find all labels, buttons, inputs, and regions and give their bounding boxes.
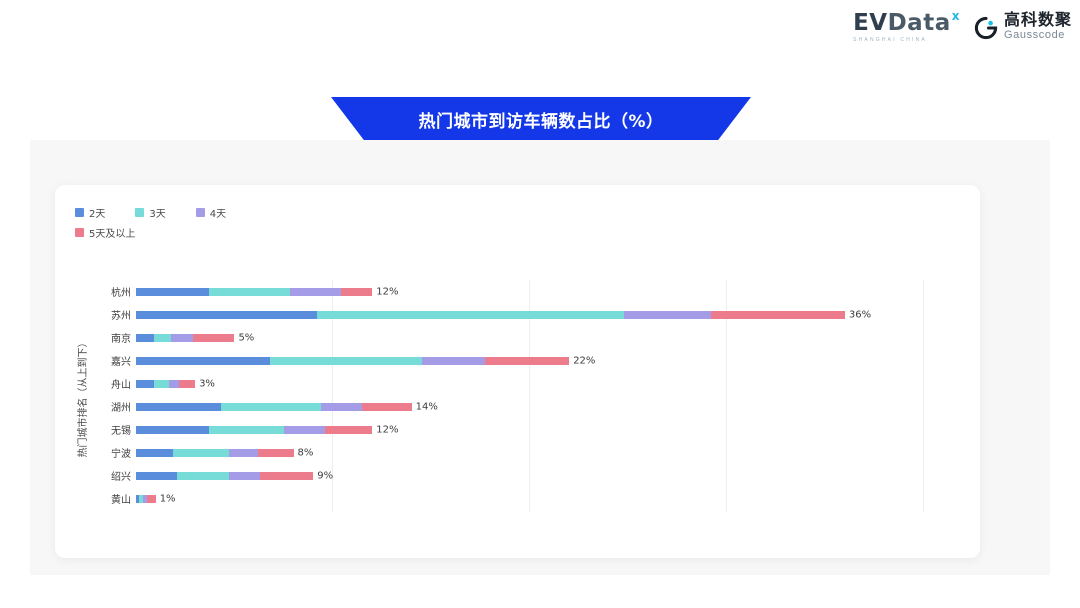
- chart-area: 热门城市排名（从上到下） 杭州12%苏州36%南京5%嘉兴22%舟山3%湖州14…: [55, 280, 980, 515]
- bar-segment-3天[interactable]: [270, 357, 422, 365]
- stacked-bar[interactable]: 3%: [136, 380, 195, 388]
- stacked-bar[interactable]: 1%: [136, 495, 156, 503]
- bar-segment-2天[interactable]: [136, 403, 221, 411]
- evdata-logo: EVDatax shanghai china: [853, 12, 960, 43]
- bar-segment-5天及以上[interactable]: [147, 495, 156, 503]
- stacked-bar[interactable]: 8%: [136, 449, 294, 457]
- bar-segment-5天及以上[interactable]: [341, 288, 373, 296]
- legend-item-4天[interactable]: 4天: [196, 205, 226, 220]
- bar-segment-5天及以上[interactable]: [485, 357, 570, 365]
- bar-segment-4天[interactable]: [169, 380, 179, 388]
- bar-row-label: 黄山: [97, 491, 136, 506]
- legend-item-3天[interactable]: 3天: [135, 205, 165, 220]
- bar-row-label: 嘉兴: [97, 353, 136, 368]
- bar-row[interactable]: 杭州12%: [97, 280, 962, 303]
- bar-value-label: 5%: [238, 332, 254, 343]
- bar-segment-3天[interactable]: [209, 288, 290, 296]
- bar-segment-5天及以上[interactable]: [258, 449, 293, 457]
- gausscode-mark-icon: [974, 16, 998, 40]
- bar-segment-4天[interactable]: [229, 449, 259, 457]
- bar-row-label: 苏州: [97, 307, 136, 322]
- bar-value-label: 12%: [376, 424, 398, 435]
- gausscode-text: 高科数聚 Gausscode: [1004, 13, 1072, 41]
- bar-row[interactable]: 无锡12%: [97, 418, 962, 441]
- legend-label: 5天及以上: [89, 225, 135, 240]
- stacked-bar[interactable]: 12%: [136, 426, 372, 434]
- bar-row[interactable]: 黄山1%: [97, 487, 962, 510]
- bar-segment-2天[interactable]: [136, 288, 209, 296]
- bar-segment-4天[interactable]: [171, 334, 193, 342]
- bar-row-label: 湖州: [97, 399, 136, 414]
- bar-segment-5天及以上[interactable]: [711, 311, 845, 319]
- bar-segment-5天及以上[interactable]: [325, 426, 372, 434]
- bar-row[interactable]: 苏州36%: [97, 303, 962, 326]
- bar-segment-3天[interactable]: [221, 403, 321, 411]
- bar-segment-2天[interactable]: [136, 357, 270, 365]
- evdata-wordmark: EVDatax: [853, 12, 960, 35]
- bar-segment-3天[interactable]: [177, 472, 228, 480]
- bar-value-label: 9%: [317, 470, 333, 481]
- bar-segment-4天[interactable]: [284, 426, 325, 434]
- legend-item-5天及以上[interactable]: 5天及以上: [75, 225, 375, 240]
- bar-segment-3天[interactable]: [154, 380, 170, 388]
- bar-segment-2天[interactable]: [136, 449, 173, 457]
- title-ribbon-wrapper: 热门城市到访车辆数占比（%）: [0, 97, 1080, 145]
- gausscode-en-name: Gausscode: [1004, 30, 1072, 42]
- chart-card: 2天3天4天5天及以上 热门城市排名（从上到下） 杭州12%苏州36%南京5%嘉…: [55, 185, 980, 558]
- bar-segment-2天[interactable]: [136, 426, 209, 434]
- bar-segment-4天[interactable]: [422, 357, 485, 365]
- bar-row-label: 绍兴: [97, 468, 136, 483]
- bar-row[interactable]: 南京5%: [97, 326, 962, 349]
- stacked-bar[interactable]: 9%: [136, 472, 313, 480]
- legend-swatch-icon: [75, 208, 84, 217]
- evdata-data-text: Data: [888, 12, 951, 35]
- stacked-bar[interactable]: 14%: [136, 403, 412, 411]
- bar-row[interactable]: 宁波8%: [97, 441, 962, 464]
- bar-segment-5天及以上[interactable]: [179, 380, 195, 388]
- bar-segment-3天[interactable]: [173, 449, 228, 457]
- page-header: EVDatax shanghai china 高科数聚 Gausscode: [0, 0, 1080, 62]
- legend-swatch-icon: [135, 208, 144, 217]
- bar-row[interactable]: 舟山3%: [97, 372, 962, 395]
- bar-segment-5天及以上[interactable]: [260, 472, 313, 480]
- evdata-x-icon: x: [952, 10, 960, 22]
- gausscode-cn-name: 高科数聚: [1004, 13, 1072, 30]
- page-title: 热门城市到访车辆数占比（%）: [418, 107, 663, 132]
- bar-segment-4天[interactable]: [321, 403, 362, 411]
- bar-segment-4天[interactable]: [290, 288, 341, 296]
- bar-value-label: 8%: [298, 447, 314, 458]
- legend-label: 3天: [149, 205, 165, 220]
- legend-item-2天[interactable]: 2天: [75, 205, 105, 220]
- bar-segment-2天[interactable]: [136, 380, 154, 388]
- bar-row[interactable]: 嘉兴22%: [97, 349, 962, 372]
- logo-group: EVDatax shanghai china 高科数聚 Gausscode: [853, 12, 1072, 43]
- legend-label: 2天: [89, 205, 105, 220]
- bar-value-label: 1%: [160, 493, 176, 504]
- legend-swatch-icon: [196, 208, 205, 217]
- bar-segment-3天[interactable]: [154, 334, 172, 342]
- bar-row[interactable]: 湖州14%: [97, 395, 962, 418]
- bar-value-label: 12%: [376, 286, 398, 297]
- stacked-bar[interactable]: 22%: [136, 357, 569, 365]
- bar-segment-2天[interactable]: [136, 472, 177, 480]
- stacked-bar[interactable]: 5%: [136, 334, 234, 342]
- bar-rows: 杭州12%苏州36%南京5%嘉兴22%舟山3%湖州14%无锡12%宁波8%绍兴9…: [97, 280, 962, 512]
- bar-row-label: 杭州: [97, 284, 136, 299]
- bar-segment-4天[interactable]: [624, 311, 711, 319]
- bar-value-label: 3%: [199, 378, 215, 389]
- chart-legend: 2天3天4天5天及以上: [75, 205, 375, 245]
- bar-row-label: 无锡: [97, 422, 136, 437]
- bar-value-label: 22%: [573, 355, 595, 366]
- bar-row-label: 南京: [97, 330, 136, 345]
- y-axis-title: 热门城市排名（从上到下）: [75, 280, 93, 515]
- bar-segment-2天[interactable]: [136, 334, 154, 342]
- bar-segment-4天[interactable]: [229, 472, 261, 480]
- bar-value-label: 14%: [416, 401, 438, 412]
- bar-row-label: 宁波: [97, 445, 136, 460]
- evdata-tagline: shanghai china: [853, 38, 927, 43]
- bar-value-label: 36%: [849, 309, 871, 320]
- bar-row[interactable]: 绍兴9%: [97, 464, 962, 487]
- bar-segment-5天及以上[interactable]: [362, 403, 411, 411]
- gausscode-logo: 高科数聚 Gausscode: [974, 13, 1072, 41]
- legend-label: 4天: [210, 205, 226, 220]
- bar-row-label: 舟山: [97, 376, 136, 391]
- stacked-bar[interactable]: 12%: [136, 288, 372, 296]
- legend-swatch-icon: [75, 228, 84, 237]
- bar-segment-3天[interactable]: [317, 311, 624, 319]
- bar-segment-5天及以上[interactable]: [193, 334, 234, 342]
- evdata-ev-text: EV: [853, 12, 888, 35]
- bar-segment-2天[interactable]: [136, 311, 317, 319]
- stacked-bar[interactable]: 36%: [136, 311, 845, 319]
- title-ribbon: 热门城市到访车辆数占比（%）: [331, 97, 751, 141]
- bar-segment-3天[interactable]: [209, 426, 284, 434]
- plot-area: 杭州12%苏州36%南京5%嘉兴22%舟山3%湖州14%无锡12%宁波8%绍兴9…: [97, 280, 962, 512]
